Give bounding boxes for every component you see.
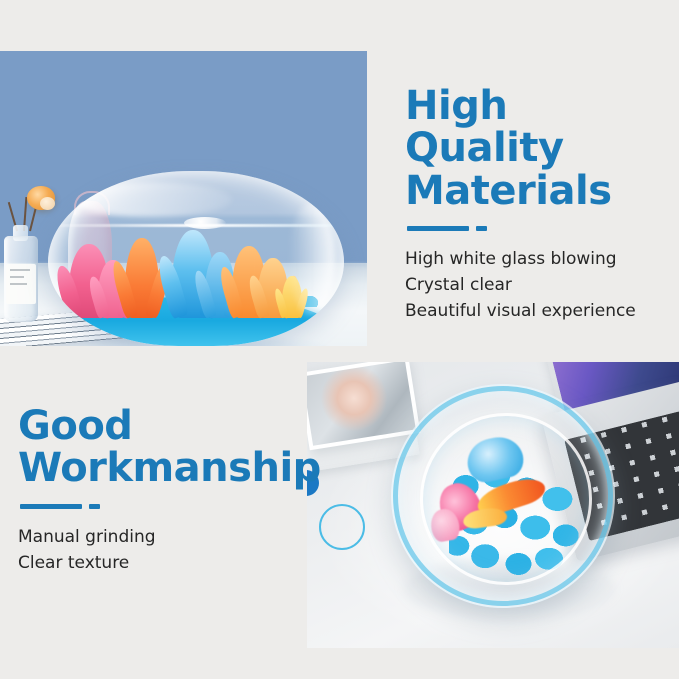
accent-rule-bar bbox=[20, 504, 82, 509]
accent-rule-bar bbox=[407, 226, 469, 231]
feature-bullet: Crystal clear bbox=[405, 273, 675, 299]
feature-bullet: Clear texture bbox=[18, 551, 318, 577]
product-photo-bowl-side-view bbox=[0, 51, 367, 346]
glass-fishbowl-top-view bbox=[391, 384, 615, 608]
accent-rule-dash bbox=[89, 504, 100, 509]
glass-fishbowl bbox=[48, 171, 344, 346]
dried-flower-bud bbox=[40, 197, 55, 210]
accent-rule-dash bbox=[476, 226, 487, 231]
feature-bullet: Manual grinding bbox=[18, 525, 318, 551]
feature-heading: Good Workmanship bbox=[18, 405, 318, 490]
heading-line-2: Workmanship bbox=[18, 447, 318, 489]
heading-line-1: Good bbox=[18, 405, 318, 447]
feature-block-good-workmanship: Good Workmanship Manual grinding Clear t… bbox=[18, 405, 318, 576]
bowl-outer-rim bbox=[393, 386, 613, 606]
blue-ring-decoration bbox=[319, 504, 365, 550]
feature-bullet: Beautiful visual experience bbox=[405, 299, 675, 325]
photo-frame-image bbox=[307, 362, 416, 446]
accent-rule bbox=[407, 226, 675, 231]
feature-bullet-list: Manual grinding Clear texture bbox=[18, 525, 318, 577]
accent-rule bbox=[20, 504, 318, 509]
product-photo-bowl-top-view bbox=[307, 362, 679, 648]
heading-line-2: Materials bbox=[405, 170, 675, 212]
feature-bullet-list: High white glass blowing Crystal clear B… bbox=[405, 247, 675, 324]
glass-highlight bbox=[72, 182, 232, 217]
feature-bullet: High white glass blowing bbox=[405, 247, 675, 273]
feature-block-high-quality-materials: High Quality Materials High white glass … bbox=[405, 85, 675, 325]
infographic-canvas: High Quality Materials High white glass … bbox=[0, 0, 679, 679]
heading-line-1: High Quality bbox=[405, 85, 675, 170]
coral-plant-orange bbox=[125, 238, 159, 318]
bottle-label bbox=[6, 264, 36, 304]
glass-highlight-right bbox=[288, 203, 335, 315]
water-foam bbox=[184, 217, 226, 229]
feature-heading: High Quality Materials bbox=[405, 85, 675, 212]
